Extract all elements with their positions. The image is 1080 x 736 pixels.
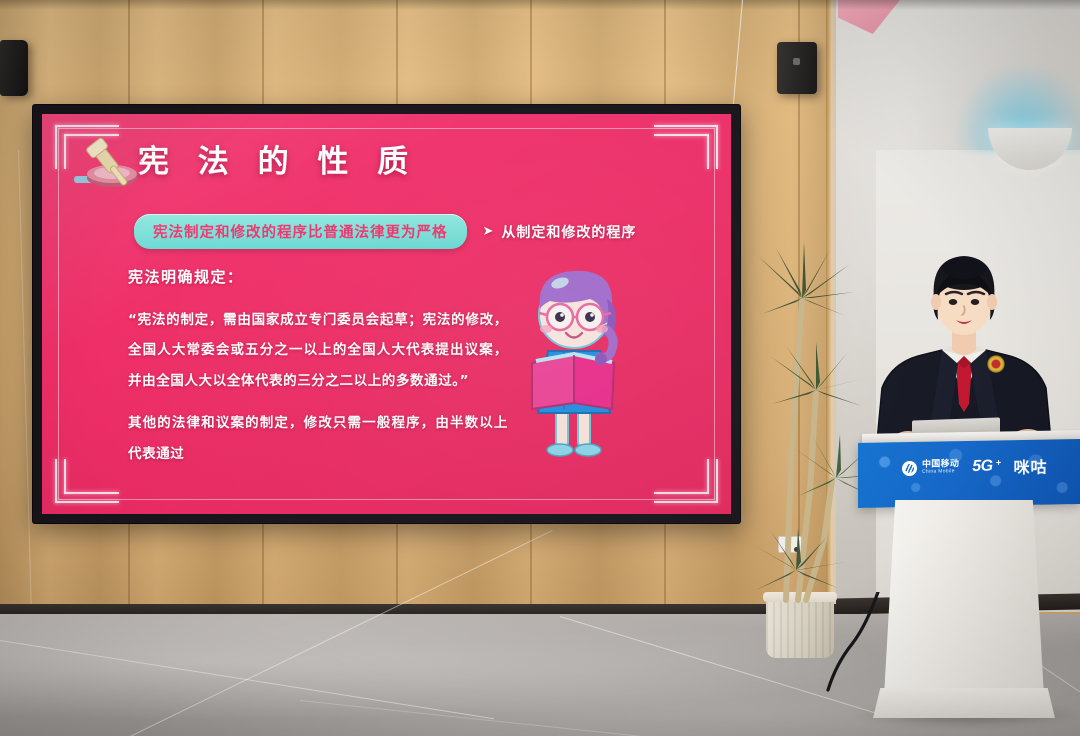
china-mobile-mark-icon [902,460,917,475]
wall-speaker-right [777,42,817,94]
slide-subtitle-row: 宪法制定和修改的程序比普通法律更为严格 ➤ 从制定和修改的程序 [134,214,636,249]
led-display[interactable]: 宪 法 的 性 质 宪法制定和修改的程序比普通法律更为严格 ➤ 从制定和修改的程… [33,105,740,523]
migu-logo: 咪咕 [1014,454,1048,479]
corner-bracket-bottom-right [652,453,718,503]
slide-body: 宪法明确规定： “宪法的制定，需由国家成立专门委员会起草；宪法的修改，全国人大常… [128,266,508,481]
china-mobile-logo: 中国移动 China Mobile [902,460,959,476]
cartoon-girl-reading-book-icon [502,259,647,464]
wall-speaker-left [0,40,28,96]
fiveg-label: 5G [972,458,992,475]
photo-scene: 宪 法 的 性 质 宪法制定和修改的程序比普通法律更为严格 ➤ 从制定和修改的程… [0,0,1080,736]
fiveg-logo: 5G+ [972,457,1000,475]
slide-title: 宪 法 的 性 质 [138,136,417,181]
china-mobile-en-label: China Mobile [922,469,959,475]
slide-lead-text: 宪法明确规定： [128,266,508,287]
slide-paragraph-2: 其他的法律和议案的制定，修改只需一般程序，由半数以上代表通过 [128,408,508,469]
slide-arrow-label: ➤ 从制定和修改的程序 [483,222,637,242]
ceiling-shadow [0,0,1080,10]
corner-bracket-top-right [652,125,718,175]
arrow-label-text: 从制定和修改的程序 [501,222,636,242]
corner-bracket-bottom-left [55,453,121,503]
slide-paragraph-1: “宪法的制定，需由国家成立专门委员会起草；宪法的修改，全国人大常委会或五分之一以… [128,305,508,396]
slide-pill-banner: 宪法制定和修改的程序比普通法律更为严格 [134,214,467,249]
fiveg-plus-icon: + [996,457,1001,467]
brand-row: 中国移动 China Mobile 5G+ 咪咕 [902,454,1048,481]
presentation-slide: 宪 法 的 性 质 宪法制定和修改的程序比普通法律更为严格 ➤ 从制定和修改的程… [42,114,731,514]
arrow-right-icon: ➤ [483,224,495,239]
podium-brand-banner: 中国移动 China Mobile 5G+ 咪咕 [858,439,1080,508]
floor-cable [820,592,940,712]
